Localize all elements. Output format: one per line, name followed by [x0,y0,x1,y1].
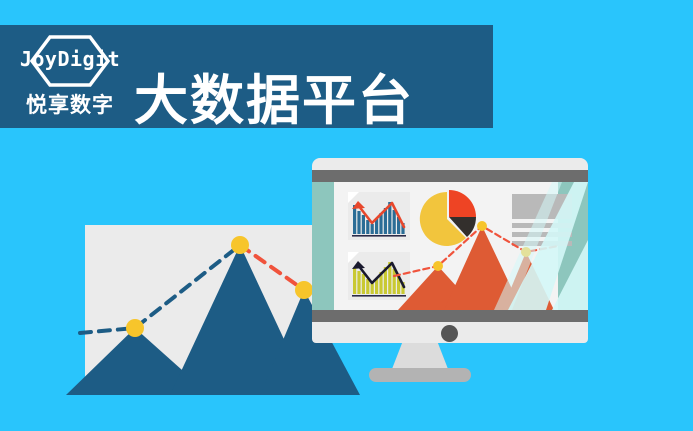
peak-marker [295,281,313,299]
header-banner: JoyDigit 悦享数字 大数据平台 [0,25,493,128]
logo-wordmark: JoyDigit [14,47,126,71]
peak-marker [433,261,443,271]
logo-subtitle: 悦享数字 [14,89,126,119]
peak-marker [521,247,531,257]
monitor-power-button[interactable] [441,325,458,342]
monitor-stand-base [369,368,471,382]
orange-mountain-right [502,252,554,310]
brand-logo: JoyDigit 悦享数字 [14,33,126,121]
card-fold-corner [348,192,359,203]
card-fold-corner [348,252,359,263]
monitor-frame [312,158,588,343]
peak-marker [231,236,249,254]
illustration-canvas: JoyDigit 悦享数字 大数据平台 [0,0,693,431]
page-title: 大数据平台 [134,71,414,131]
peak-marker [477,221,487,231]
monitor-stand-neck [392,343,448,369]
screen-sidebar-left [312,182,334,310]
monitor-bottom-bezel [312,310,588,322]
monitor-screen [312,182,588,310]
dashboard-canvas [334,182,558,310]
orange-area-chart [394,214,558,310]
monitor-top-bezel [312,170,588,182]
peak-marker [126,319,144,337]
